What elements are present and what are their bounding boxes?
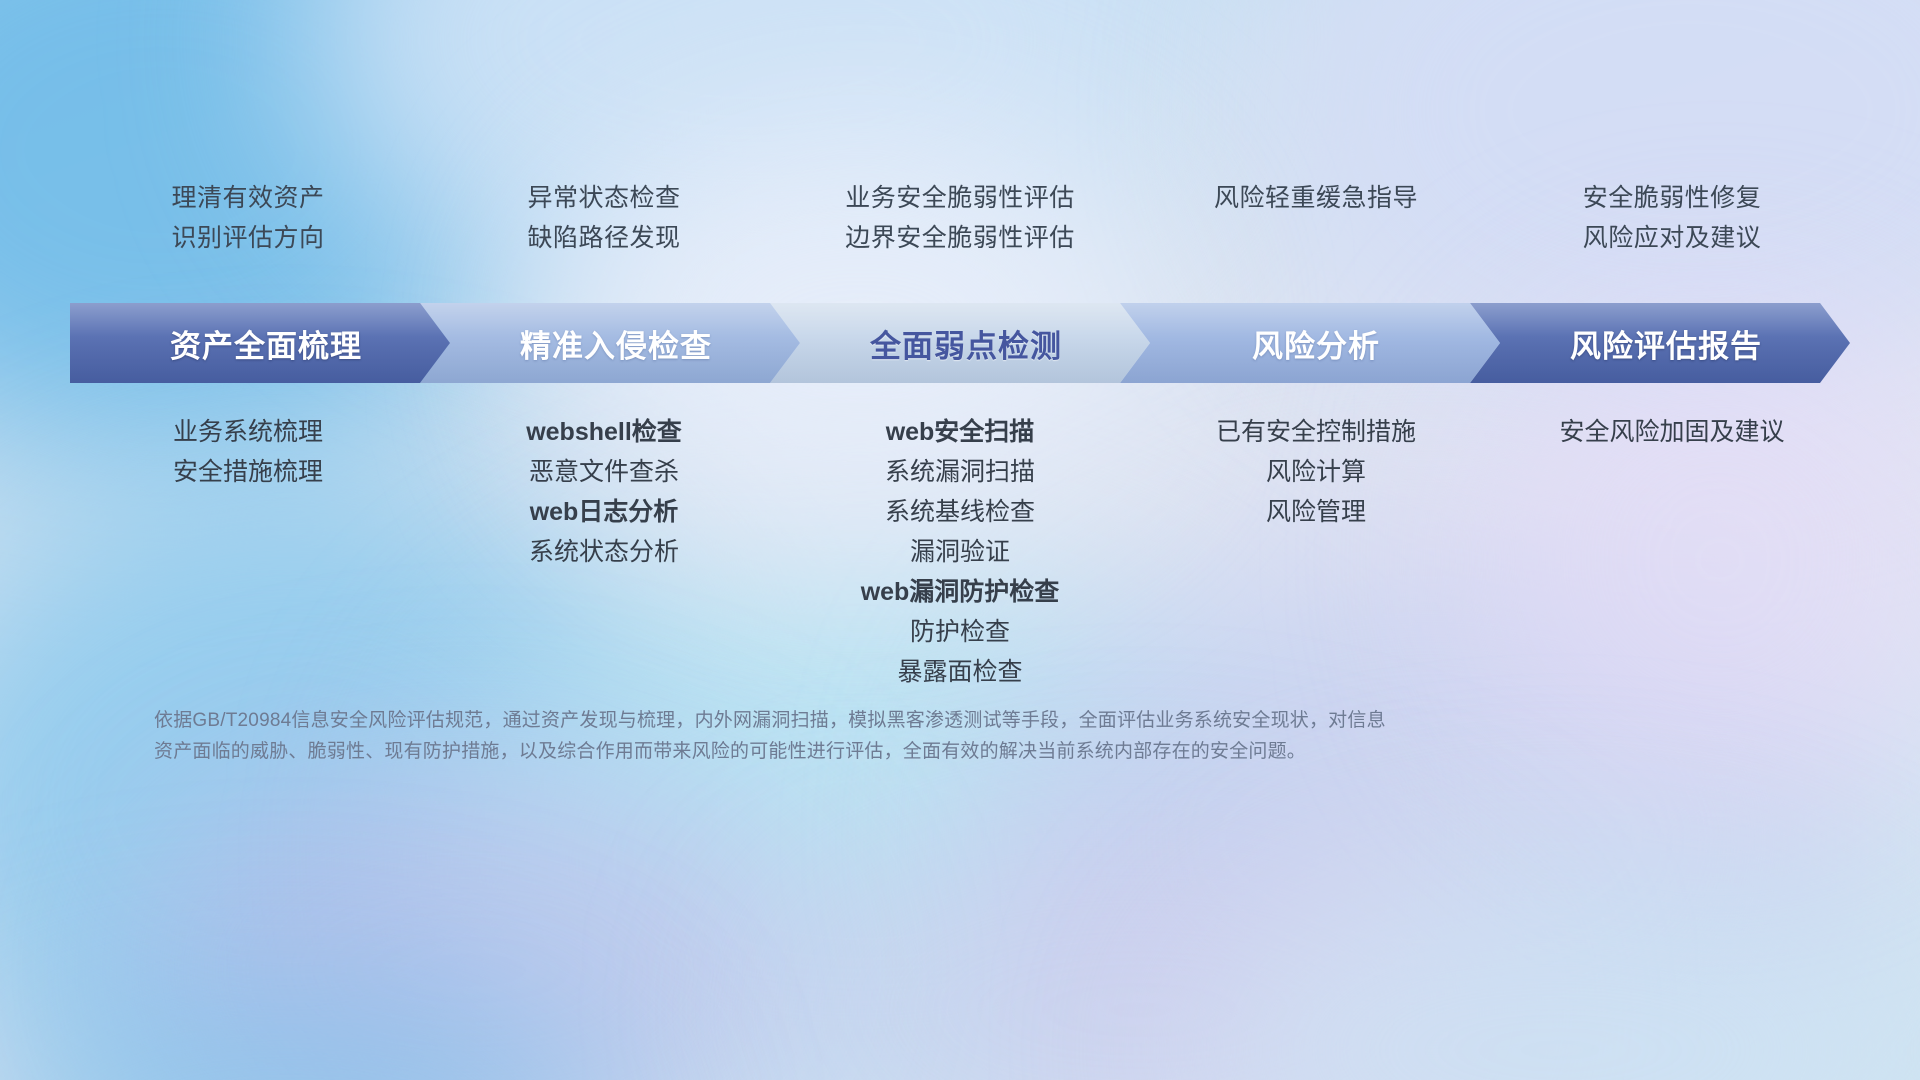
- stage-outcome-item: 业务安全脆弱性评估: [782, 178, 1138, 218]
- activity-item: 系统状态分析: [426, 532, 782, 572]
- chevron-stage-asset-inventory[interactable]: 资产全面梳理: [70, 303, 450, 383]
- stage-1-outcomes: 理清有效资产 识别评估方向: [70, 178, 426, 258]
- activity-item: 风险计算: [1138, 452, 1494, 492]
- activity-item: web日志分析: [426, 492, 782, 532]
- stage-2-outcomes: 异常状态检查 缺陷路径发现: [426, 178, 782, 258]
- stage-outcome-item: 风险应对及建议: [1494, 218, 1850, 258]
- stage-outcome-item: 边界安全脆弱性评估: [782, 218, 1138, 258]
- activity-item: 安全措施梳理: [70, 452, 426, 492]
- stage-outcome-item: 识别评估方向: [70, 218, 426, 258]
- chevron-label: 精准入侵检查: [520, 321, 712, 366]
- stage-5-activities: 安全风险加固及建议: [1494, 412, 1850, 452]
- chevron-stage-risk-report[interactable]: 风险评估报告: [1470, 303, 1850, 383]
- footer-description: 依据GB/T20984信息安全风险评估规范，通过资产发现与梳理，内外网漏洞扫描，…: [154, 705, 1404, 767]
- stage-2-activities: webshell检查 恶意文件查杀 web日志分析 系统状态分析: [426, 412, 782, 572]
- stage-outcome-item: 缺陷路径发现: [426, 218, 782, 258]
- chevron-label: 风险评估报告: [1570, 321, 1762, 366]
- chevron-label: 资产全面梳理: [170, 321, 362, 366]
- process-chevron-band: 资产全面梳理 精准入侵检查 全面弱点检测 风险分析 风险评估报告: [70, 303, 1850, 383]
- stage-outcome-item: 风险轻重缓急指导: [1138, 178, 1494, 218]
- activity-item: 暴露面检查: [782, 652, 1138, 692]
- slide-content: 理清有效资产 识别评估方向 异常状态检查 缺陷路径发现 业务安全脆弱性评估 边界…: [0, 0, 1920, 1080]
- stage-4-activities: 已有安全控制措施 风险计算 风险管理: [1138, 412, 1494, 532]
- stage-outcome-item: 安全脆弱性修复: [1494, 178, 1850, 218]
- stage-1-activities: 业务系统梳理 安全措施梳理: [70, 412, 426, 492]
- stage-3-activities: web安全扫描 系统漏洞扫描 系统基线检查 漏洞验证 web漏洞防护检查 防护检…: [782, 412, 1138, 692]
- stage-outcomes-row: 理清有效资产 识别评估方向 异常状态检查 缺陷路径发现 业务安全脆弱性评估 边界…: [70, 178, 1850, 258]
- chevron-stage-risk-analysis[interactable]: 风险分析: [1120, 303, 1500, 383]
- chevron-stage-intrusion-check[interactable]: 精准入侵检查: [420, 303, 800, 383]
- chevron-label: 全面弱点检测: [870, 321, 1062, 366]
- stage-outcome-item: 理清有效资产: [70, 178, 426, 218]
- activity-item: 系统漏洞扫描: [782, 452, 1138, 492]
- stage-5-outcomes: 安全脆弱性修复 风险应对及建议: [1494, 178, 1850, 258]
- stage-outcome-item: 异常状态检查: [426, 178, 782, 218]
- activity-item: webshell检查: [426, 412, 782, 452]
- activity-item: web安全扫描: [782, 412, 1138, 452]
- activity-item: web漏洞防护检查: [782, 572, 1138, 612]
- chevron-stage-weakness-detection[interactable]: 全面弱点检测: [770, 303, 1150, 383]
- activity-item: 防护检查: [782, 612, 1138, 652]
- stage-activities-row: 业务系统梳理 安全措施梳理 webshell检查 恶意文件查杀 web日志分析 …: [70, 412, 1850, 692]
- activity-item: 风险管理: [1138, 492, 1494, 532]
- activity-item: 漏洞验证: [782, 532, 1138, 572]
- activity-item: 恶意文件查杀: [426, 452, 782, 492]
- stage-3-outcomes: 业务安全脆弱性评估 边界安全脆弱性评估: [782, 178, 1138, 258]
- activity-item: 业务系统梳理: [70, 412, 426, 452]
- chevron-label: 风险分析: [1252, 321, 1380, 366]
- stage-4-outcomes: 风险轻重缓急指导: [1138, 178, 1494, 258]
- slide-canvas: 理清有效资产 识别评估方向 异常状态检查 缺陷路径发现 业务安全脆弱性评估 边界…: [0, 0, 1920, 1080]
- activity-item: 系统基线检查: [782, 492, 1138, 532]
- activity-item: 已有安全控制措施: [1138, 412, 1494, 452]
- activity-item: 安全风险加固及建议: [1494, 412, 1850, 452]
